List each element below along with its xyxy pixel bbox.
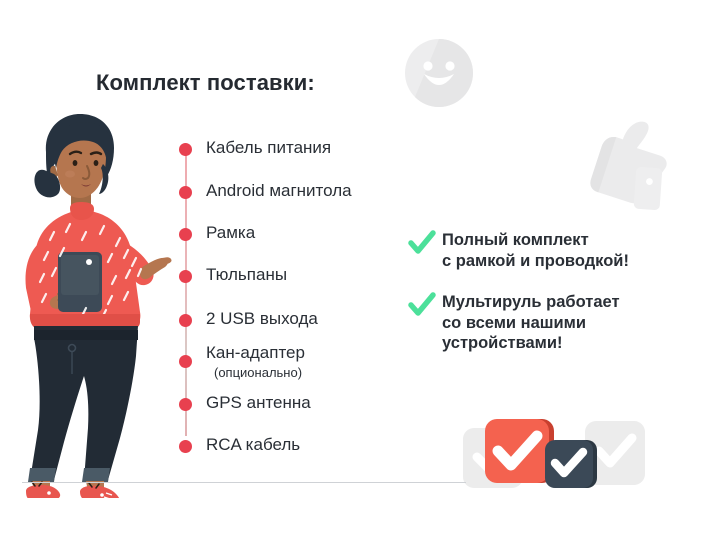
list-item: Рамка bbox=[206, 224, 255, 242]
green-check-icon bbox=[408, 230, 436, 256]
list-bullet bbox=[179, 270, 192, 283]
ground-line bbox=[22, 482, 466, 483]
kit-contents-list: Кабель питания Android магнитола Рамка Т… bbox=[176, 130, 416, 460]
list-item: RCA кабель bbox=[206, 436, 300, 454]
benefit-text: Мультируль работает со всеми нашими устр… bbox=[442, 292, 620, 354]
benefit-text: Полный комплект с рамкой и проводкой! bbox=[442, 230, 629, 271]
checkbox-squares-icon bbox=[463, 405, 645, 497]
list-bullet bbox=[179, 440, 192, 453]
list-item: 2 USB выхода bbox=[206, 310, 318, 328]
list-item: GPS антенна bbox=[206, 394, 311, 412]
list-bullet bbox=[179, 143, 192, 156]
list-item: Кабель питания bbox=[206, 139, 331, 157]
thumbs-up-icon bbox=[578, 113, 684, 213]
benefit-item: Мультируль работает со всеми нашими устр… bbox=[408, 292, 620, 354]
svg-text:Avito: Avito bbox=[645, 504, 694, 526]
list-bullet bbox=[179, 355, 192, 368]
list-bullet bbox=[179, 186, 192, 199]
page-title: Комплект поставки: bbox=[96, 70, 315, 96]
benefit-item: Полный комплект с рамкой и проводкой! bbox=[408, 230, 629, 271]
list-item: Кан-адаптер bbox=[206, 344, 305, 362]
list-item: Android магнитола bbox=[206, 182, 352, 200]
avito-logo-icon: Avito bbox=[618, 500, 710, 526]
list-item: Тюльпаны bbox=[206, 266, 287, 284]
list-bullet bbox=[179, 314, 192, 327]
woman-pointing-illustration bbox=[8, 108, 178, 498]
smiley-face-icon bbox=[404, 38, 474, 108]
promo-image-canvas: Комплект поставки: Кабель питания Androi… bbox=[0, 0, 720, 540]
list-bullet bbox=[179, 228, 192, 241]
list-item-note: (опционально) bbox=[214, 365, 302, 380]
list-bullet bbox=[179, 398, 192, 411]
green-check-icon bbox=[408, 292, 436, 318]
